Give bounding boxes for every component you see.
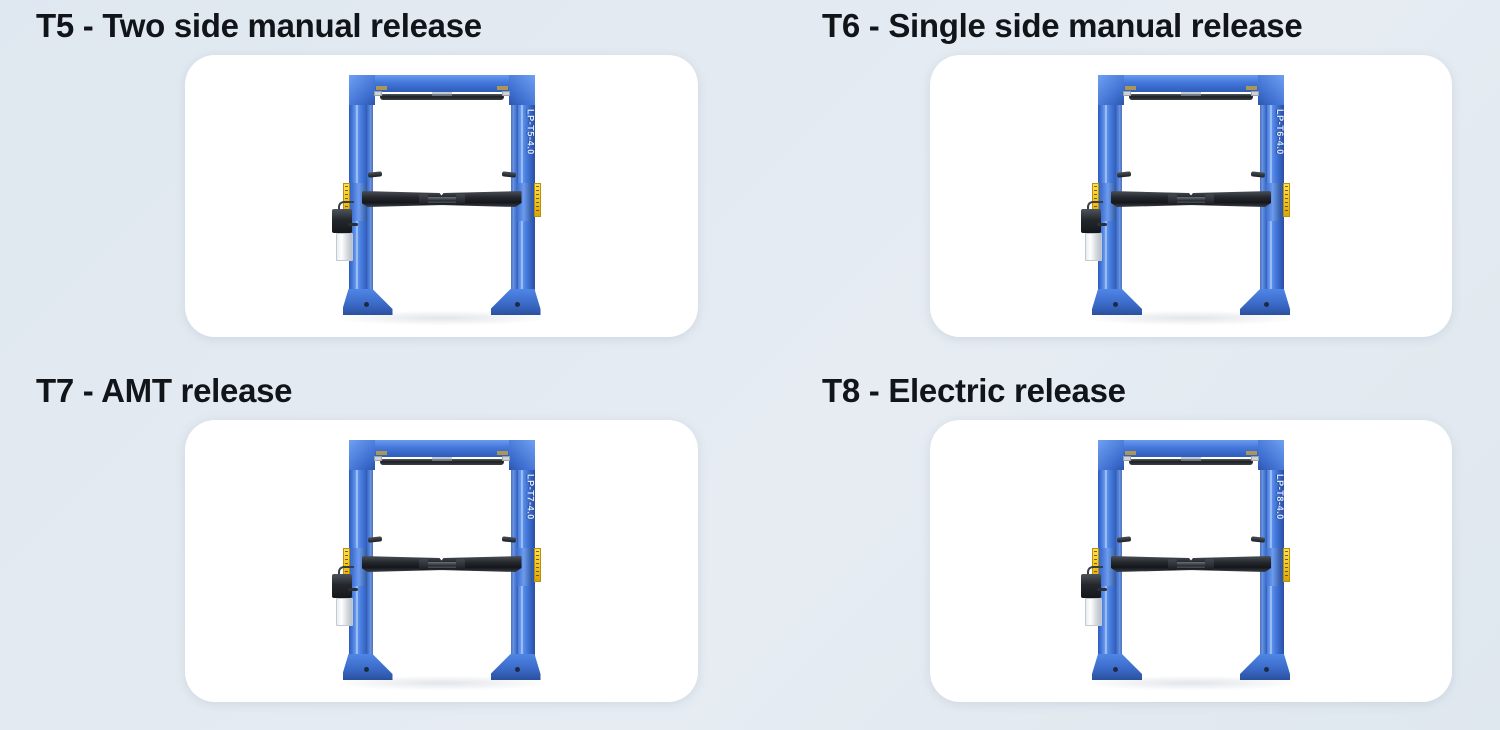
lift-hose-cap-right: [502, 91, 510, 96]
lift-model-label: LP-T7-4.0: [523, 458, 539, 536]
lift-arm-pad-left: [1205, 559, 1214, 570]
lift-post-rail-left: [1115, 81, 1122, 291]
lift-model-label: LP-T5-4.0: [523, 93, 539, 171]
lift-beam-plate-right: [1246, 86, 1257, 90]
power-unit-hose: [348, 588, 358, 591]
panel-title-t8: T8 - Electric release: [822, 369, 1126, 413]
lift-anchor-bolt-left: [1113, 667, 1118, 672]
lift-arm-pad-right: [419, 559, 428, 570]
lift-arm-pad-left: [456, 559, 465, 570]
product-panel-t8: T8 - Electric release LP-T8-4.0: [750, 365, 1500, 730]
warning-sticker-right: [534, 183, 541, 217]
power-unit-motor: [1081, 209, 1101, 233]
warning-sticker-right: [534, 548, 541, 582]
lift-beam-plate-left: [376, 86, 387, 90]
lift-arm-pad-right: [1168, 194, 1177, 205]
power-unit-reservoir: [1085, 598, 1102, 626]
product-panel-t5: T5 - Two side manual release LP-T5-4.0: [0, 0, 750, 365]
warning-sticker-right: [1283, 548, 1290, 582]
lift-hose-cap-right: [502, 456, 510, 461]
lift-anchor-bolt-right: [515, 667, 520, 672]
lift-beam-logo: [1181, 92, 1201, 96]
two-post-lift-illustration-t8: LP-T8-4.0: [1085, 426, 1297, 696]
lift-beam-plate-left: [1125, 86, 1136, 90]
lift-beam-plate-right: [497, 86, 508, 90]
lift-post-rail-left: [366, 446, 373, 656]
power-unit-reservoir: [1085, 233, 1102, 261]
power-unit-motor: [332, 574, 352, 598]
lift-beam-logo: [1181, 457, 1201, 461]
lift-hose-cap-left: [374, 91, 382, 96]
lift-arm-pad-right: [1168, 559, 1177, 570]
product-panel-t7: T7 - AMT release LP-T7-4.0: [0, 365, 750, 730]
panel-title-t6: T6 - Single side manual release: [822, 4, 1302, 48]
lift-hose-cap-right: [1251, 456, 1259, 461]
lift-cylinder-left: [1117, 171, 1131, 177]
two-post-lift-illustration-t7: LP-T7-4.0: [336, 426, 548, 696]
lift-beam-corner-left: [349, 440, 375, 470]
lift-hose-cap-left: [1123, 456, 1131, 461]
power-unit-reservoir: [336, 233, 353, 261]
lift-beam-plate-left: [376, 451, 387, 455]
lift-beam-corner-left: [1098, 440, 1124, 470]
power-unit-hose: [1097, 223, 1107, 226]
lift-beam-plate-right: [1246, 451, 1257, 455]
power-unit-motor: [1081, 574, 1101, 598]
lift-hose-cap-right: [1251, 91, 1259, 96]
lift-anchor-bolt-left: [364, 667, 369, 672]
lift-beam-corner-left: [1098, 75, 1124, 105]
lift-cylinder-right: [501, 536, 515, 542]
lift-hose-cap-left: [374, 456, 382, 461]
lift-arm-pad-left: [1205, 194, 1214, 205]
power-unit-motor: [332, 209, 352, 233]
lift-cylinder-right: [1251, 171, 1265, 177]
lift-cylinder-left: [367, 536, 381, 542]
lift-cylinder-left: [367, 171, 381, 177]
lift-beam-corner-left: [349, 75, 375, 105]
product-variants-page: T5 - Two side manual release LP-T5-4.0: [0, 0, 1500, 730]
lift-arm-pad-right: [419, 194, 428, 205]
lift-hose-cap-left: [1123, 91, 1131, 96]
lift-anchor-bolt-left: [364, 302, 369, 307]
lift-anchor-bolt-right: [1264, 667, 1269, 672]
lift-anchor-bolt-right: [515, 302, 520, 307]
lift-beam-logo: [432, 457, 452, 461]
power-unit-hose: [348, 223, 358, 226]
power-unit-hose: [1097, 588, 1107, 591]
lift-cylinder-left: [1117, 536, 1131, 542]
lift-post-rail-left: [366, 81, 373, 291]
product-card-t6[interactable]: LP-T6-4.0: [930, 55, 1452, 337]
lift-beam-plate-left: [1125, 451, 1136, 455]
two-post-lift-illustration-t6: LP-T6-4.0: [1085, 61, 1297, 331]
product-card-t8[interactable]: LP-T8-4.0: [930, 420, 1452, 702]
lift-arm-pad-left: [456, 194, 465, 205]
lift-anchor-bolt-right: [1264, 302, 1269, 307]
lift-cylinder-right: [501, 171, 515, 177]
product-panel-t6: T6 - Single side manual release LP-T6-4.…: [750, 0, 1500, 365]
warning-sticker-right: [1283, 183, 1290, 217]
lift-beam-plate-right: [497, 451, 508, 455]
lift-cylinder-right: [1251, 536, 1265, 542]
lift-beam-logo: [432, 92, 452, 96]
product-card-t7[interactable]: LP-T7-4.0: [185, 420, 698, 702]
lift-model-label: LP-T6-4.0: [1272, 93, 1288, 171]
two-post-lift-illustration-t5: LP-T5-4.0: [336, 61, 548, 331]
lift-model-label: LP-T8-4.0: [1272, 458, 1288, 536]
power-unit-reservoir: [336, 598, 353, 626]
lift-anchor-bolt-left: [1113, 302, 1118, 307]
panel-title-t5: T5 - Two side manual release: [36, 4, 482, 48]
lift-post-rail-left: [1115, 446, 1122, 656]
product-card-t5[interactable]: LP-T5-4.0: [185, 55, 698, 337]
panel-title-t7: T7 - AMT release: [36, 369, 292, 413]
